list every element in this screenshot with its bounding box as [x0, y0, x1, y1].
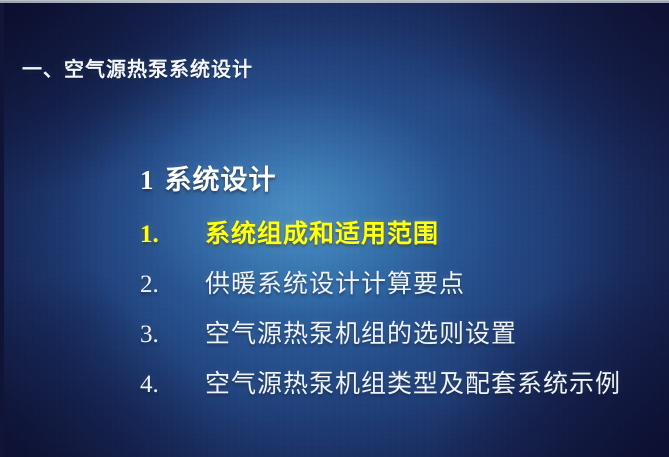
- list-item-number: 2.: [140, 260, 205, 310]
- list-item-label: 空气源热泵机组的选则设置: [205, 321, 517, 348]
- list-item-label: 系统组成和适用范围: [205, 221, 439, 248]
- agenda-list: 1.系统组成和适用范围 2.供暖系统设计计算要点 3.空气源热泵机组的选则设置 …: [140, 210, 621, 410]
- slide-title: 一、空气源热泵系统设计: [22, 53, 253, 82]
- list-item-number: 3.: [140, 310, 205, 360]
- list-item-number: 1.: [140, 210, 205, 260]
- presentation-slide: 一、空气源热泵系统设计 1系统设计 1.系统组成和适用范围 2.供暖系统设计计算…: [0, 0, 669, 457]
- list-item[interactable]: 4.空气源热泵机组类型及配套系统示例: [140, 360, 621, 410]
- list-item-label: 供暖系统设计计算要点: [205, 271, 465, 298]
- section-heading-number: 1: [140, 165, 155, 195]
- list-item[interactable]: 2.供暖系统设计计算要点: [140, 260, 621, 310]
- slide-content: 一、空气源热泵系统设计 1系统设计 1.系统组成和适用范围 2.供暖系统设计计算…: [0, 1, 669, 457]
- list-item-label: 空气源热泵机组类型及配套系统示例: [205, 371, 621, 398]
- section-heading-label: 系统设计: [165, 165, 277, 195]
- list-item-number: 4.: [140, 360, 205, 410]
- section-heading: 1系统设计: [140, 158, 277, 197]
- list-item[interactable]: 3.空气源热泵机组的选则设置: [140, 310, 621, 360]
- list-item[interactable]: 1.系统组成和适用范围: [140, 210, 621, 260]
